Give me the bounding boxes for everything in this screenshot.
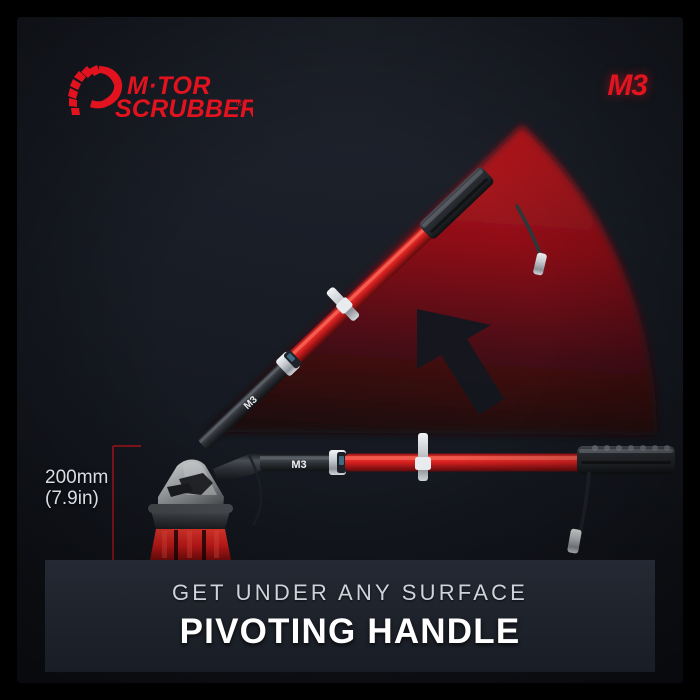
logo-wordmark-line2: SCRUBBER — [115, 95, 253, 123]
caption-band: GET UNDER ANY SURFACE PIVOTING HANDLE — [45, 560, 655, 672]
dimension-inch-value: (7.9in) — [45, 488, 131, 509]
dimension-mm-value: 200mm — [45, 467, 131, 488]
logo-trademark: ® — [236, 98, 243, 108]
motorscrubber-spiral-burst-icon — [68, 65, 122, 115]
lower-pole-black-shaft: M3 — [260, 454, 338, 471]
caption-title: PIVOTING HANDLE — [180, 612, 521, 652]
content-panel: M3 — [17, 17, 683, 683]
lower-pole-power-cable — [567, 473, 589, 554]
caption-subtitle: GET UNDER ANY SURFACE — [172, 580, 528, 606]
head-bristles — [150, 529, 231, 560]
product-lower-pole: M3 — [213, 433, 675, 554]
lower-pole-red-shaft — [345, 454, 585, 472]
model-badge: M3 — [607, 69, 647, 103]
lower-pole-joint-clamp — [329, 450, 346, 475]
dimension-annotation: 200mm (7.9in) — [45, 467, 131, 510]
brand-logo: M·TOR SCRUBBER ® — [53, 61, 253, 123]
product-marketing-image: M3 — [0, 0, 700, 700]
lower-pole-end-grip — [577, 445, 675, 474]
svg-text:M3: M3 — [291, 459, 306, 471]
pivot-arc-graphic — [207, 125, 657, 435]
